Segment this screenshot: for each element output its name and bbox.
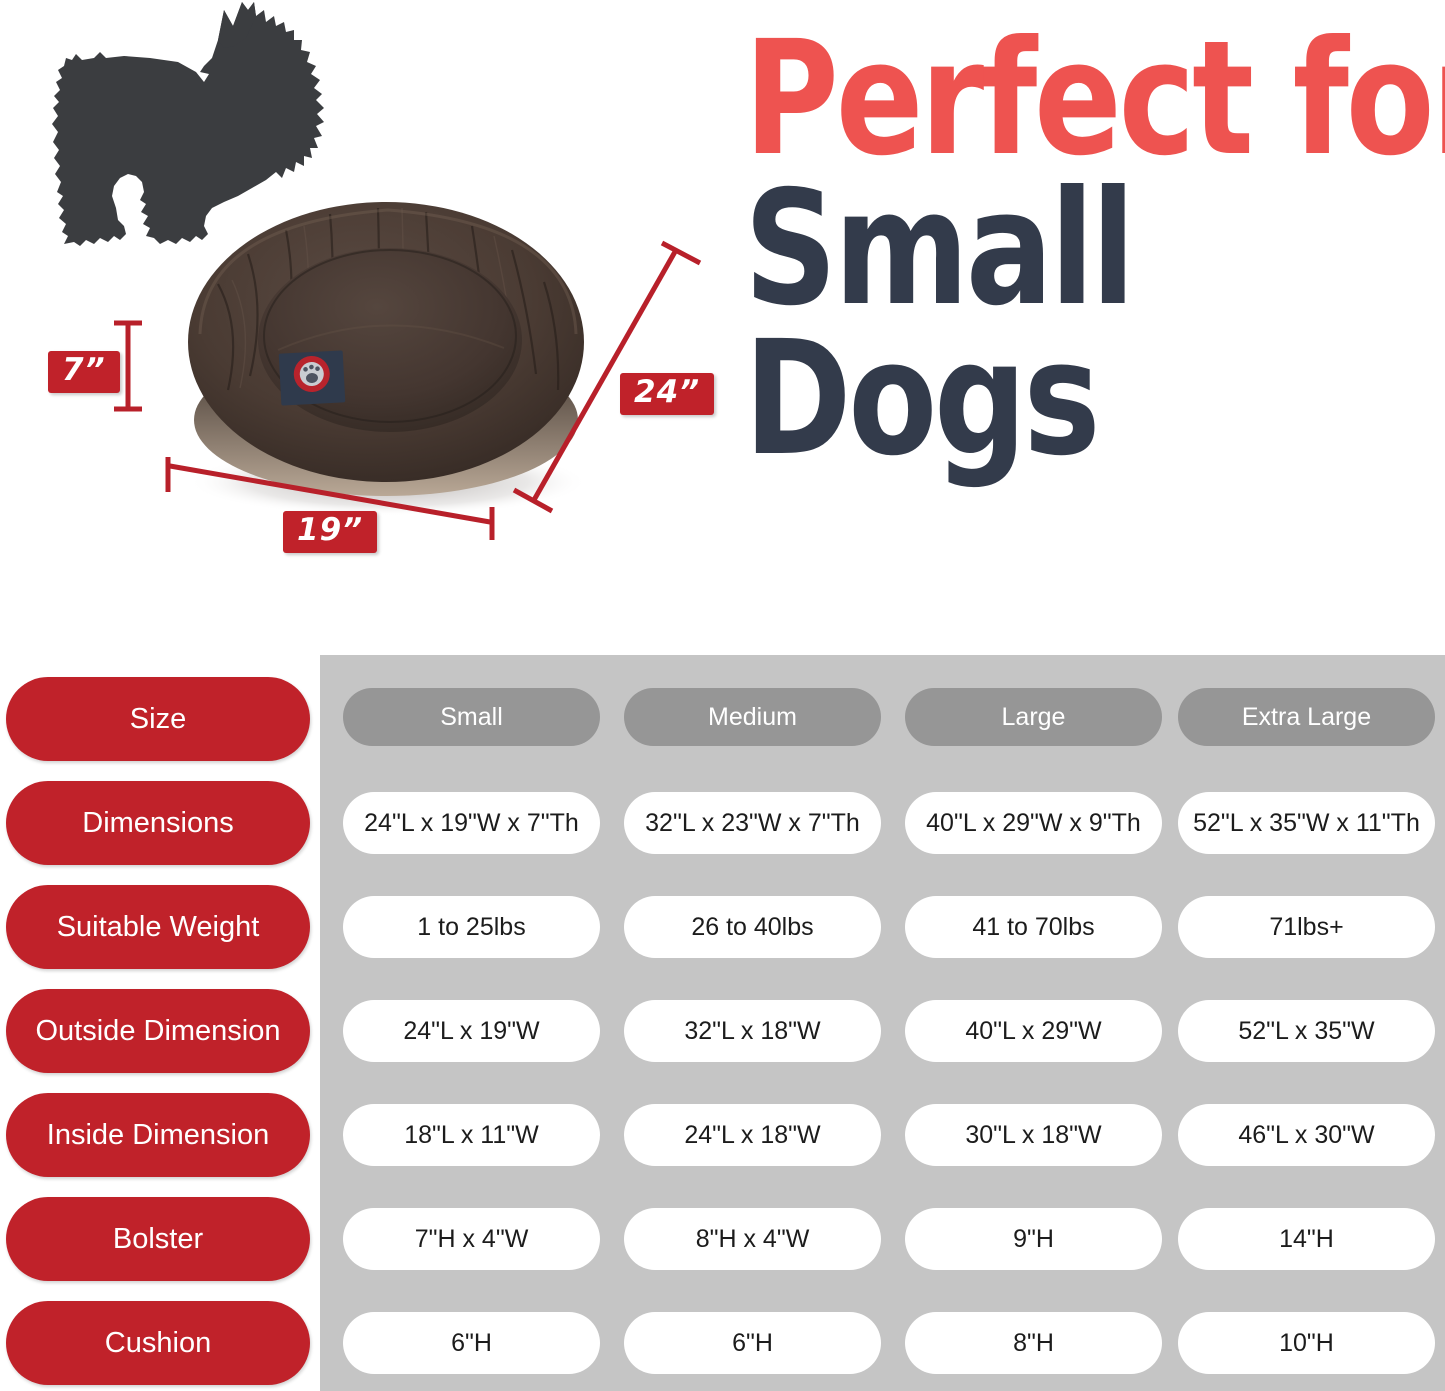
infographic-root: Perfect for Small Dogs 7” 24” 19” SmallM… xyxy=(0,0,1445,1391)
spec-cell: 46"L x 30"W xyxy=(1178,1104,1435,1166)
spec-cell: 7"H x 4"W xyxy=(343,1208,600,1270)
spec-row: 18"L x 11"W24"L x 18"W30"L x 18"W46"L x … xyxy=(320,1084,1445,1168)
spec-table: SmallMediumLargeExtra Large24"L x 19"W x… xyxy=(0,655,1445,1391)
spec-cell: 10"H xyxy=(1178,1312,1435,1374)
spec-cell: 71lbs+ xyxy=(1178,896,1435,958)
spec-cell: 6"H xyxy=(624,1312,881,1374)
spec-row: SmallMediumLargeExtra Large xyxy=(320,668,1445,752)
spec-cell: 26 to 40lbs xyxy=(624,896,881,958)
spec-cell: 24"L x 18"W xyxy=(624,1104,881,1166)
spec-row-label-size: Size xyxy=(6,677,310,761)
spec-cell: 32"L x 18"W xyxy=(624,1000,881,1062)
spec-cell: 30"L x 18"W xyxy=(905,1104,1162,1166)
spec-table-panel: SmallMediumLargeExtra Large24"L x 19"W x… xyxy=(320,655,1445,1391)
headline-line-2: Small xyxy=(744,174,1318,324)
spec-row-label-dimensions: Dimensions xyxy=(6,781,310,865)
spec-row-label-suitable-weight: Suitable Weight xyxy=(6,885,310,969)
spec-cell: 8"H x 4"W xyxy=(624,1208,881,1270)
callout-length-label: 24” xyxy=(620,373,714,415)
spec-column-header: Medium xyxy=(624,688,881,746)
spec-cell: 1 to 25lbs xyxy=(343,896,600,958)
spec-column-header: Small xyxy=(343,688,600,746)
spec-cell: 40"L x 29"W x 9"Th xyxy=(905,792,1162,854)
headline: Perfect for Small Dogs xyxy=(744,24,1444,474)
spec-cell: 41 to 70lbs xyxy=(905,896,1162,958)
spec-row-label-bolster: Bolster xyxy=(6,1197,310,1281)
spec-cell: 14"H xyxy=(1178,1208,1435,1270)
callout-height-label: 7” xyxy=(48,351,120,393)
spec-row-label-inside-dimension: Inside Dimension xyxy=(6,1093,310,1177)
spec-cell: 32"L x 23"W x 7"Th xyxy=(624,792,881,854)
spec-row: 6"H6"H8"H10"H xyxy=(320,1292,1445,1376)
spec-column-header: Extra Large xyxy=(1178,688,1435,746)
spec-cell: 9"H xyxy=(905,1208,1162,1270)
spec-row-label-cushion: Cushion xyxy=(6,1301,310,1385)
headline-line-3: Dogs xyxy=(744,324,1318,474)
spec-row-label-outside-dimension: Outside Dimension xyxy=(6,989,310,1073)
spec-cell: 6"H xyxy=(343,1312,600,1374)
spec-cell: 8"H xyxy=(905,1312,1162,1374)
spec-row: 1 to 25lbs26 to 40lbs41 to 70lbs71lbs+ xyxy=(320,876,1445,960)
callout-width-label: 19” xyxy=(283,511,377,553)
spec-cell: 24"L x 19"W x 7"Th xyxy=(343,792,600,854)
hero-section: Perfect for Small Dogs 7” 24” 19” xyxy=(0,0,1445,655)
spec-cell: 24"L x 19"W xyxy=(343,1000,600,1062)
spec-cell: 52"L x 35"W xyxy=(1178,1000,1435,1062)
spec-cell: 18"L x 11"W xyxy=(343,1104,600,1166)
spec-row: 24"L x 19"W x 7"Th32"L x 23"W x 7"Th40"L… xyxy=(320,772,1445,856)
spec-row: 24"L x 19"W32"L x 18"W40"L x 29"W52"L x … xyxy=(320,980,1445,1064)
spec-cell: 40"L x 29"W xyxy=(905,1000,1162,1062)
headline-line-1: Perfect for xyxy=(744,24,1318,174)
spec-cell: 52"L x 35"W x 11"Th xyxy=(1178,792,1435,854)
spec-row: 7"H x 4"W8"H x 4"W9"H14"H xyxy=(320,1188,1445,1272)
spec-row-label-column: SizeDimensionsSuitable WeightOutside Dim… xyxy=(0,655,320,1391)
spec-column-header: Large xyxy=(905,688,1162,746)
